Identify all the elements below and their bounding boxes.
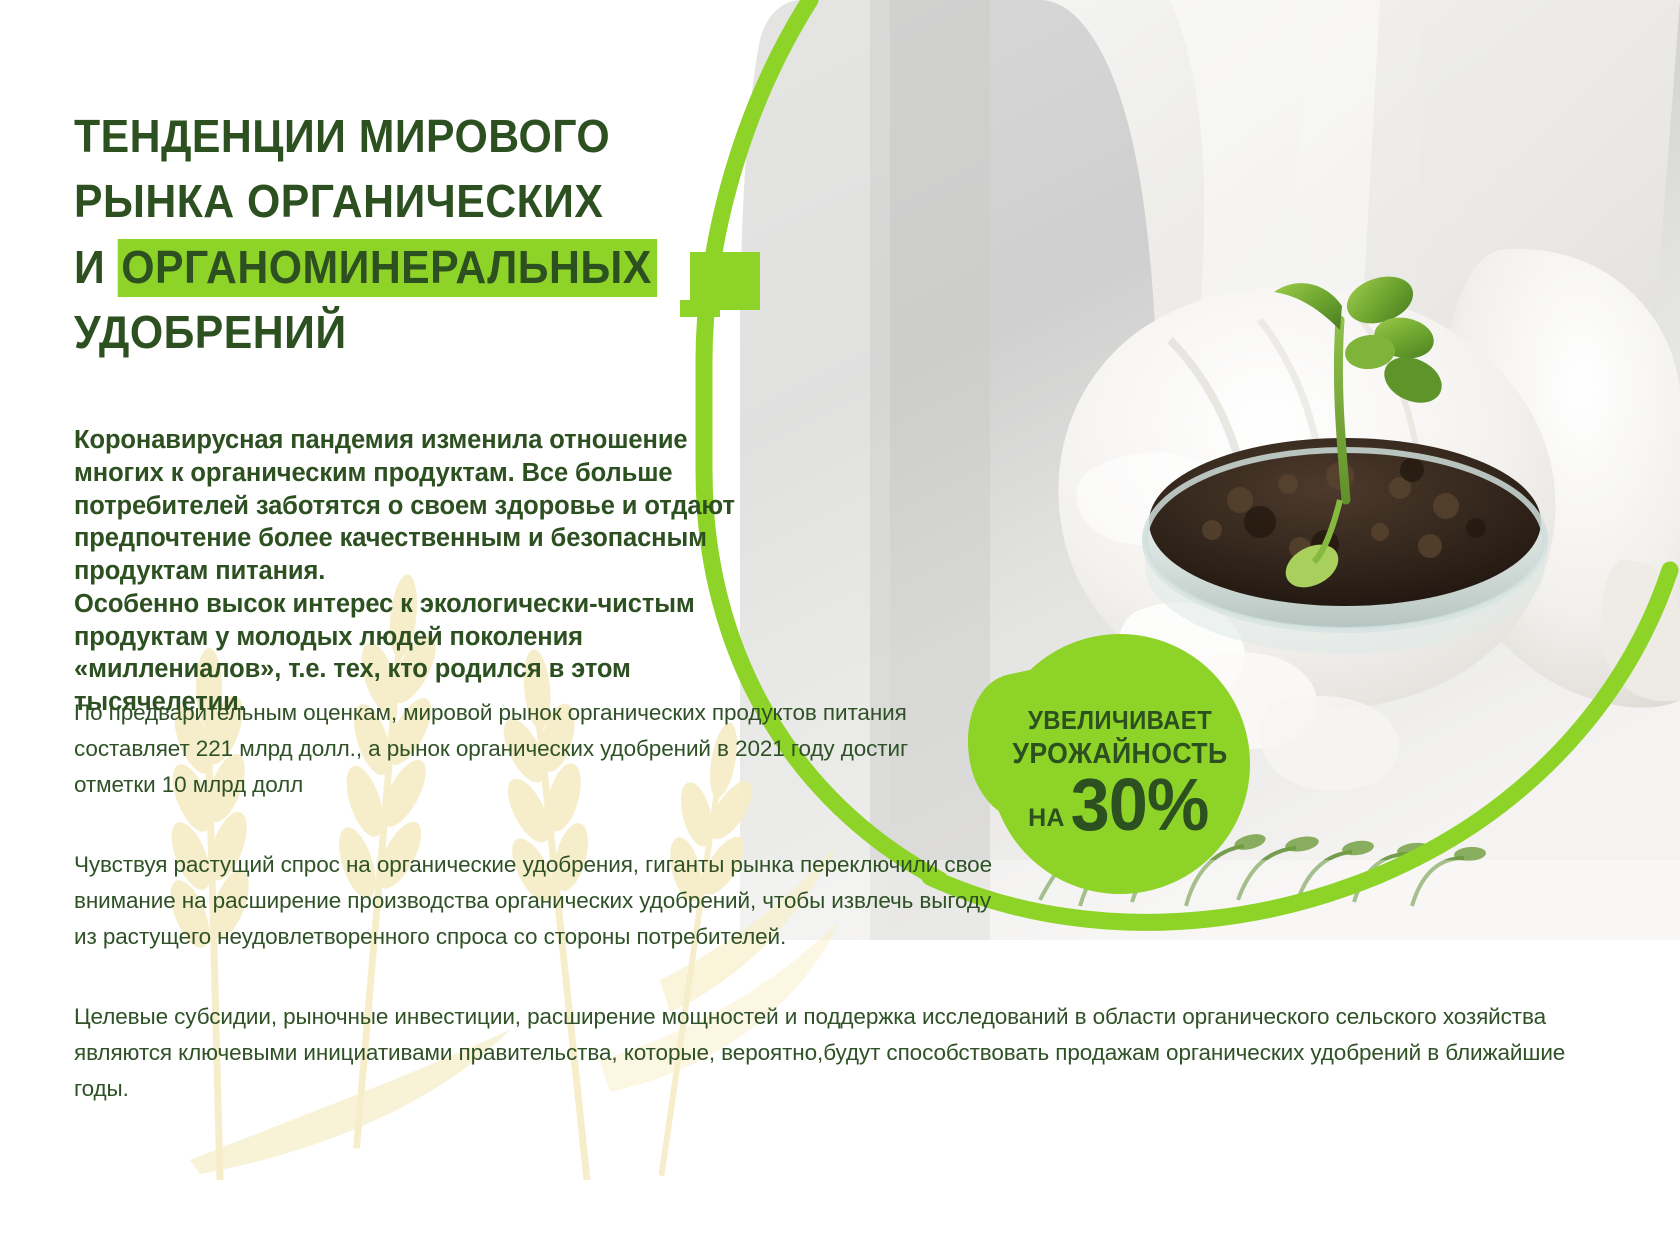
title-line-3-prefix: И xyxy=(74,241,118,293)
badge-line-1: УВЕЛИЧИВАЕТ xyxy=(1028,707,1212,734)
title-line-1: ТЕНДЕНЦИИ МИРОВОГО xyxy=(74,104,706,169)
title-highlight: ОРГАНОМИНЕРАЛЬНЫХ xyxy=(118,239,658,297)
body-paragraph-3: Целевые субсидии, рыночные инвестиции, р… xyxy=(74,999,1614,1107)
lead-text: Коронавирусная пандемия изменила отношен… xyxy=(74,424,774,719)
page-title: ТЕНДЕНЦИИ МИРОВОГО РЫНКА ОРГАНИЧЕСКИХ И … xyxy=(74,104,754,365)
infographic-slide: ТЕНДЕНЦИИ МИРОВОГО РЫНКА ОРГАНИЧЕСКИХ И … xyxy=(0,0,1680,1235)
badge-content: УВЕЛИЧИВАЕТ УРОЖАЙНОСТЬ НА 30% xyxy=(990,634,1250,894)
badge-line-3: НА 30% xyxy=(1028,772,1212,837)
yield-increase-badge: УВЕЛИЧИВАЕТ УРОЖАЙНОСТЬ НА 30% xyxy=(990,634,1250,894)
title-line-2: РЫНКА ОРГАНИЧЕСКИХ xyxy=(74,169,706,234)
badge-prefix: НА xyxy=(1028,804,1067,837)
title-line-3: И ОРГАНОМИНЕРАЛЬНЫХ xyxy=(74,235,706,300)
body-paragraph-2: Чувствуя растущий спрос на органические … xyxy=(74,847,1004,955)
body-paragraph-1: По предварительным оценкам, мировой рыно… xyxy=(74,695,954,803)
lead-paragraph-1: Коронавирусная пандемия изменила отношен… xyxy=(74,424,774,588)
body-text: По предварительным оценкам, мировой рыно… xyxy=(74,695,1614,1151)
title-green-tab xyxy=(690,252,760,310)
badge-value: 30% xyxy=(1070,772,1208,837)
title-line-4: УДОБРЕНИЙ xyxy=(74,300,706,365)
